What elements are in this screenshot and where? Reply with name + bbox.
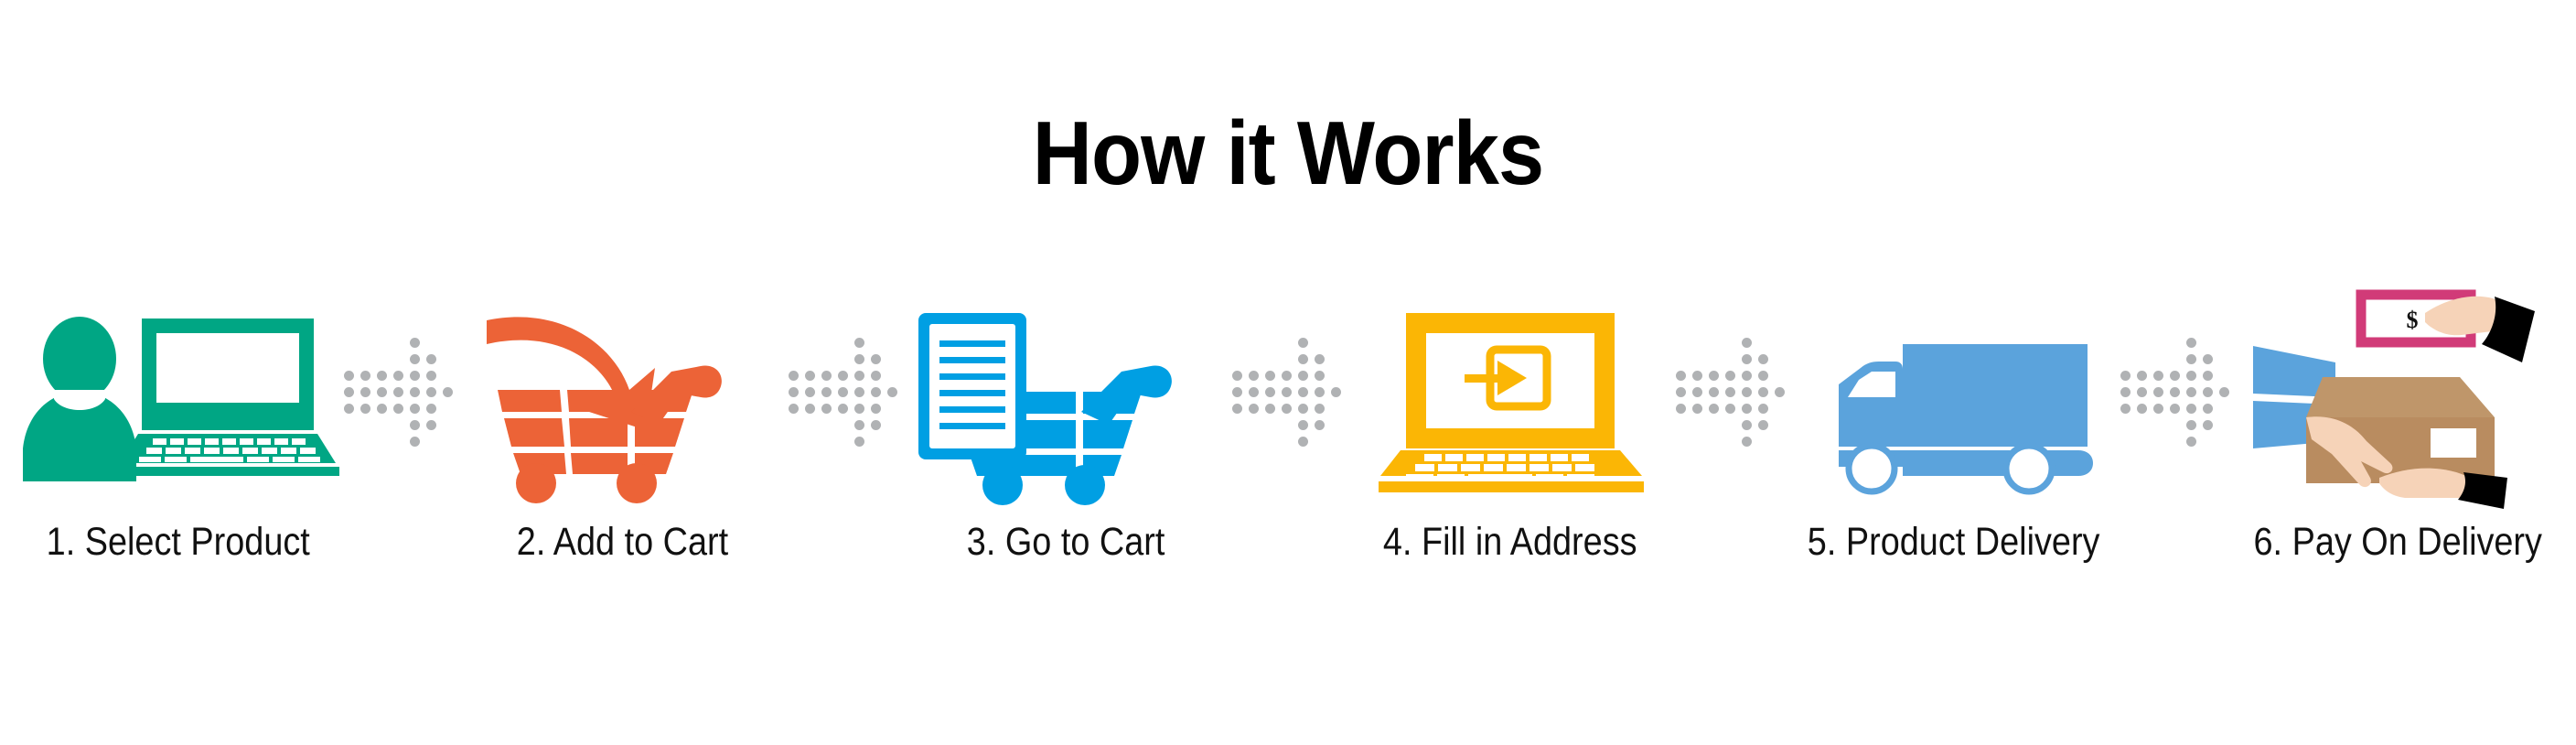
- step-6-pay-on-delivery[interactable]: $: [2220, 302, 2576, 565]
- step-5-product-delivery[interactable]: 5. Product Delivery: [1776, 302, 2131, 565]
- steps-row: 1. Select Product: [0, 302, 2576, 659]
- dotted-arrow-right-icon-5: [2132, 302, 2220, 485]
- dotted-arrow-right-icon-4: [1688, 302, 1776, 485]
- step-2-add-to-cart[interactable]: 2. Add to Cart: [444, 302, 800, 565]
- dotted-arrow-right-icon-2: [800, 302, 888, 485]
- hands-box-money-icon: $: [2224, 302, 2571, 485]
- step-6-label: 6. Pay On Delivery: [2254, 520, 2542, 565]
- step-3-label: 3. Go to Cart: [967, 520, 1165, 565]
- step-5-label: 5. Product Delivery: [1808, 520, 2100, 565]
- person-laptop-icon: [5, 302, 352, 485]
- delivery-truck-icon: [1780, 302, 2128, 485]
- how-it-works-infographic: How it Works: [0, 0, 2576, 745]
- page-title: How it Works: [103, 108, 2474, 198]
- document-cart-icon: [892, 302, 1240, 485]
- step-1-select-product[interactable]: 1. Select Product: [0, 302, 356, 565]
- money-dollar-symbol: $: [2407, 307, 2419, 333]
- step-2-label: 2. Add to Cart: [516, 520, 727, 565]
- step-3-go-to-cart[interactable]: 3. Go to Cart: [888, 302, 1244, 565]
- dotted-arrow-right-icon-1: [356, 302, 444, 485]
- laptop-login-icon: [1336, 302, 1684, 485]
- step-1-label: 1. Select Product: [47, 520, 310, 565]
- dotted-arrow-right-icon-3: [1244, 302, 1332, 485]
- cart-arrow-icon: [448, 302, 796, 485]
- step-4-label: 4. Fill in Address: [1383, 520, 1637, 565]
- step-4-fill-in-address[interactable]: 4. Fill in Address: [1332, 302, 1688, 565]
